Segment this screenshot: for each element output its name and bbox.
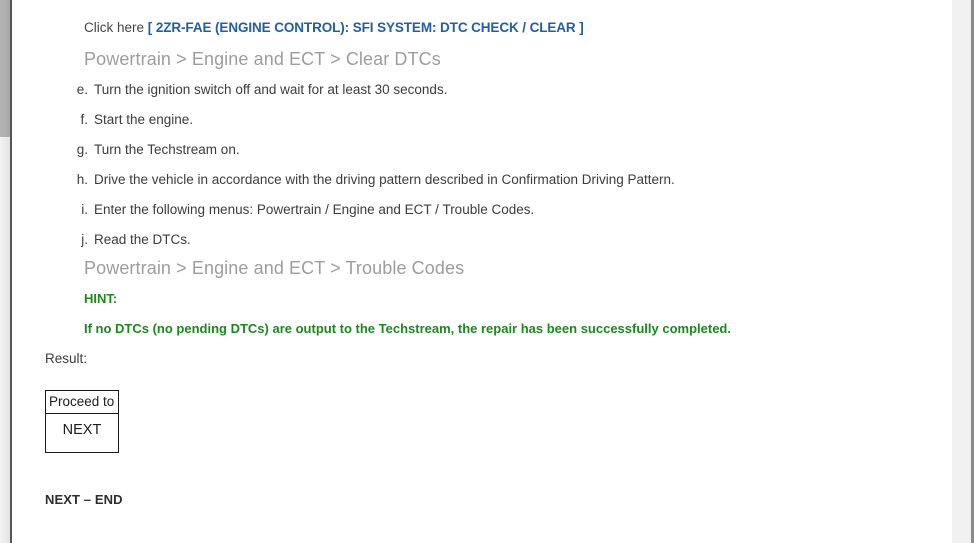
left-scrollbar-thumb[interactable]: [0, 0, 10, 137]
proceed-to-value[interactable]: NEXT: [46, 414, 118, 452]
proceed-to-header: Proceed to: [46, 391, 118, 414]
list-item: e.Turn the ignition switch off and wait …: [44, 82, 924, 97]
list-item-marker: j.: [44, 232, 94, 247]
breadcrumb-clear-dtcs: Powertrain > Engine and ECT > Clear DTCs: [84, 49, 441, 70]
left-scrollbar[interactable]: [0, 0, 12, 543]
list-item-text: Read the DTCs.: [94, 232, 191, 247]
list-item: i.Enter the following menus: Powertrain …: [44, 202, 924, 217]
click-here-label: Click here: [84, 20, 148, 35]
document-viewport: Click here [ 2ZR-FAE (ENGINE CONTROL): S…: [0, 0, 974, 543]
list-item-text: Drive the vehicle in accordance with the…: [94, 172, 675, 187]
breadcrumb-trouble-codes: Powertrain > Engine and ECT > Trouble Co…: [84, 258, 464, 279]
list-item: f.Start the engine.: [44, 112, 924, 127]
list-item-marker: i.: [44, 202, 94, 217]
next-end-label: NEXT – END: [45, 492, 123, 507]
list-item-text: Start the engine.: [94, 112, 193, 127]
hint-body: If no DTCs (no pending DTCs) are output …: [84, 321, 731, 336]
list-item: j.Read the DTCs.: [44, 232, 924, 247]
hint-label: HINT:: [84, 291, 117, 306]
proceed-to-box: Proceed to NEXT: [45, 390, 119, 453]
list-item-marker: h.: [44, 172, 94, 187]
list-item-marker: e.: [44, 82, 94, 97]
document-content: Click here [ 2ZR-FAE (ENGINE CONTROL): S…: [14, 0, 951, 543]
list-item-text: Turn the ignition switch off and wait fo…: [94, 82, 447, 97]
click-here-line: Click here [ 2ZR-FAE (ENGINE CONTROL): S…: [84, 20, 584, 35]
list-item-text: Turn the Techstream on.: [94, 142, 240, 157]
dtc-check-clear-link[interactable]: [ 2ZR-FAE (ENGINE CONTROL): SFI SYSTEM: …: [148, 20, 584, 35]
right-scrollbar[interactable]: [951, 0, 971, 543]
list-item-marker: g.: [44, 142, 94, 157]
list-item: h.Drive the vehicle in accordance with t…: [44, 172, 924, 187]
result-label: Result:: [45, 351, 87, 366]
list-item-marker: f.: [44, 112, 94, 127]
list-item-text: Enter the following menus: Powertrain / …: [94, 202, 534, 217]
list-item: g.Turn the Techstream on.: [44, 142, 924, 157]
